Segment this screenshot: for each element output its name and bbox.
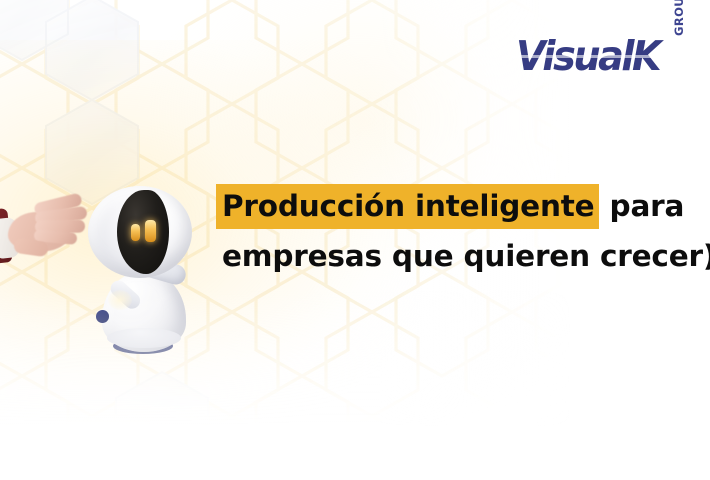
hero-banner: Producción inteligente para empresas que… xyxy=(0,0,710,480)
visualk-group-logo[interactable]: VisualK GROUP xyxy=(516,30,692,86)
headline-line-2: empresas que quieren crecer) xyxy=(216,234,686,278)
logo-light-band xyxy=(512,55,696,58)
robot-visor xyxy=(117,190,169,274)
robot-highlight xyxy=(108,290,132,310)
robot-head xyxy=(88,186,192,278)
robot-lower-hand xyxy=(96,310,109,323)
robot-eye-left xyxy=(131,224,140,241)
headline-block: Producción inteligente para empresas que… xyxy=(216,184,686,278)
logo-group-suffix: GROUP xyxy=(672,0,686,36)
headline-line-1: Producción inteligente para xyxy=(216,184,686,228)
robot-body-lower xyxy=(107,328,181,348)
robot-eye-right xyxy=(145,220,156,242)
headline-line-1-rest: para xyxy=(599,189,684,223)
white-assistant-robot xyxy=(64,186,214,356)
headline-highlight: Producción inteligente xyxy=(216,184,599,229)
